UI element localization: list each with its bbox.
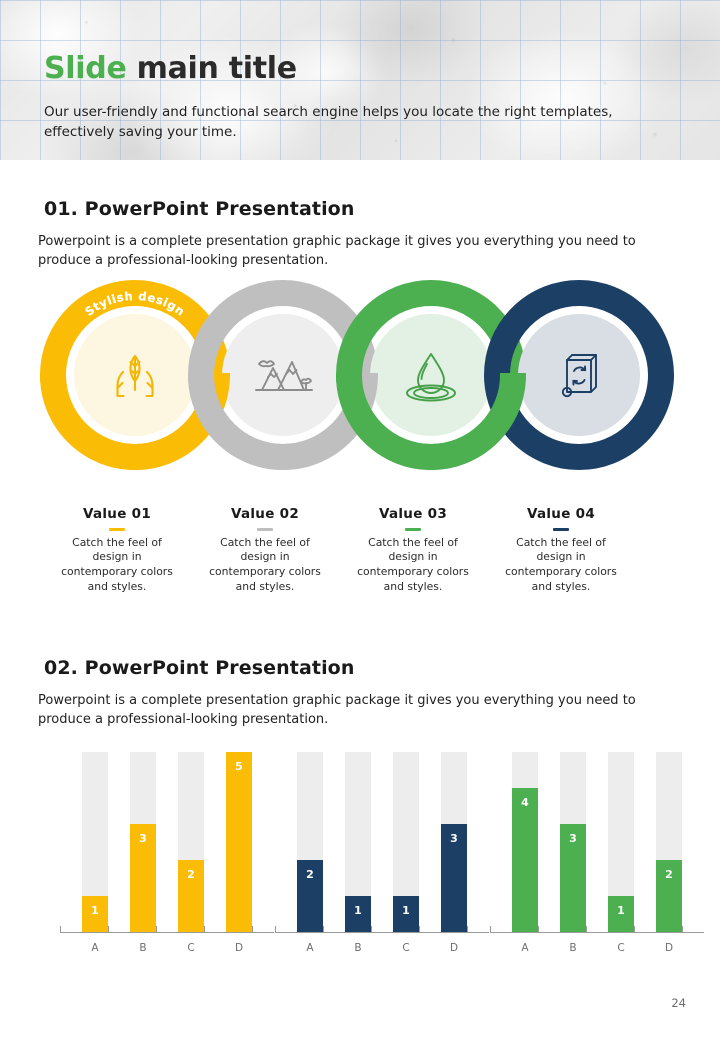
x-axis-tick — [108, 926, 109, 933]
x-axis-tick — [371, 926, 372, 933]
value-card-2[interactable]: Value 02 Catch the feel of design in con… — [190, 506, 340, 595]
x-axis-tick — [275, 926, 276, 933]
bar-fill: 3 — [130, 824, 156, 932]
bar-chart-2[interactable]: 2A1B1C3D — [275, 752, 475, 967]
bar-fill: 5 — [226, 752, 252, 932]
bar-value-label: 1 — [608, 904, 634, 917]
x-axis-tick — [586, 926, 587, 933]
x-axis-tick — [323, 926, 324, 933]
axis-category-label: D — [226, 942, 252, 954]
page-title-rest: main title — [137, 51, 297, 86]
page-title: Slide main title — [44, 51, 297, 86]
value-divider — [109, 528, 125, 531]
axis-category-label: D — [656, 942, 682, 954]
interlocking-rings-diagram: Stylish design Stylish design — [40, 278, 690, 478]
bar-charts-row: 1A3B2C5D 2A1B1C3D 4A3B1C2D — [40, 752, 690, 967]
value-card-1[interactable]: Value 01 Catch the feel of design in con… — [42, 506, 192, 595]
section-01-title: 01. PowerPoint Presentation — [44, 198, 354, 220]
x-axis-tick — [204, 926, 205, 933]
bar-fill: 2 — [297, 860, 323, 932]
page-number: 24 — [671, 996, 686, 1010]
bar-chart-3[interactable]: 4A3B1C2D — [490, 752, 690, 967]
bar-slot[interactable]: 3 — [130, 752, 156, 932]
section-02-body: Powerpoint is a complete presentation gr… — [38, 691, 682, 729]
chart-plot-area: 2A1B1C3D — [275, 752, 475, 932]
value-title: Value 04 — [486, 506, 636, 522]
rings-svg: Stylish design Stylish design — [40, 278, 690, 478]
bar-value-label: 2 — [656, 868, 682, 881]
ring-3-inner-fill — [370, 314, 492, 436]
value-divider — [257, 528, 273, 531]
axis-category-label: D — [441, 942, 467, 954]
x-axis-tick — [538, 926, 539, 933]
bar-fill: 3 — [441, 824, 467, 932]
bar-fill: 1 — [608, 896, 634, 932]
bar-fill: 2 — [178, 860, 204, 932]
value-description: Catch the feel of design in contemporary… — [338, 536, 488, 596]
axis-category-label: C — [178, 942, 204, 954]
value-card-4[interactable]: Value 04 Catch the feel of design in con… — [486, 506, 636, 595]
bar-value-label: 3 — [560, 832, 586, 845]
value-description: Catch the feel of design in contemporary… — [42, 536, 192, 596]
bar-slot[interactable]: 1 — [608, 752, 634, 932]
x-axis-tick — [60, 926, 61, 933]
ring-2-inner-fill — [222, 314, 344, 436]
value-card-3[interactable]: Value 03 Catch the feel of design in con… — [338, 506, 488, 595]
x-axis-tick — [252, 926, 253, 933]
bar-fill: 4 — [512, 788, 538, 932]
bar-value-label: 2 — [297, 868, 323, 881]
value-columns: Value 01 Catch the feel of design in con… — [42, 506, 690, 606]
axis-category-label: A — [82, 942, 108, 954]
bar-slot[interactable]: 1 — [345, 752, 371, 932]
x-axis-tick — [467, 926, 468, 933]
value-title: Value 02 — [190, 506, 340, 522]
bar-slot[interactable]: 1 — [82, 752, 108, 932]
bar-slot[interactable]: 2 — [656, 752, 682, 932]
value-divider — [405, 528, 421, 531]
bar-value-label: 1 — [345, 904, 371, 917]
bar-slot[interactable]: 3 — [441, 752, 467, 932]
x-axis-tick — [634, 926, 635, 933]
value-divider — [553, 528, 569, 531]
section-01-body: Powerpoint is a complete presentation gr… — [38, 232, 682, 270]
bar-value-label: 3 — [441, 832, 467, 845]
x-axis-tick — [156, 926, 157, 933]
slide-header-banner: Slide main title Our user-friendly and f… — [0, 0, 720, 160]
bar-value-label: 4 — [512, 796, 538, 809]
x-axis-line — [60, 932, 274, 933]
value-description: Catch the feel of design in contemporary… — [190, 536, 340, 596]
page-title-accent: Slide — [44, 51, 127, 86]
bar-fill: 2 — [656, 860, 682, 932]
bar-fill: 1 — [345, 896, 371, 932]
bar-slot[interactable]: 1 — [393, 752, 419, 932]
axis-category-label: B — [345, 942, 371, 954]
bar-slot[interactable]: 2 — [297, 752, 323, 932]
value-description: Catch the feel of design in contemporary… — [486, 536, 636, 596]
axis-category-label: B — [130, 942, 156, 954]
value-title: Value 01 — [42, 506, 192, 522]
x-axis-line — [275, 932, 489, 933]
bar-value-label: 5 — [226, 760, 252, 773]
value-title: Value 03 — [338, 506, 488, 522]
axis-category-label: A — [512, 942, 538, 954]
bar-slot[interactable]: 2 — [178, 752, 204, 932]
chart-plot-area: 1A3B2C5D — [60, 752, 260, 932]
x-axis-line — [490, 932, 704, 933]
x-axis-tick — [682, 926, 683, 933]
bar-fill: 1 — [82, 896, 108, 932]
x-axis-tick — [490, 926, 491, 933]
bar-fill: 3 — [560, 824, 586, 932]
axis-category-label: C — [393, 942, 419, 954]
bar-chart-1[interactable]: 1A3B2C5D — [60, 752, 260, 967]
chart-plot-area: 4A3B1C2D — [490, 752, 690, 932]
bar-fill: 1 — [393, 896, 419, 932]
bar-slot[interactable]: 3 — [560, 752, 586, 932]
bar-value-label: 1 — [393, 904, 419, 917]
bar-value-label: 1 — [82, 904, 108, 917]
ring-4-inner-fill — [518, 314, 640, 436]
bar-slot[interactable]: 5 — [226, 752, 252, 932]
section-02-title: 02. PowerPoint Presentation — [44, 657, 354, 679]
x-axis-tick — [419, 926, 420, 933]
axis-category-label: A — [297, 942, 323, 954]
axis-category-label: C — [608, 942, 634, 954]
bar-value-label: 2 — [178, 868, 204, 881]
page-subtitle: Our user-friendly and functional search … — [44, 103, 684, 143]
bar-value-label: 3 — [130, 832, 156, 845]
axis-category-label: B — [560, 942, 586, 954]
bar-slot[interactable]: 4 — [512, 752, 538, 932]
